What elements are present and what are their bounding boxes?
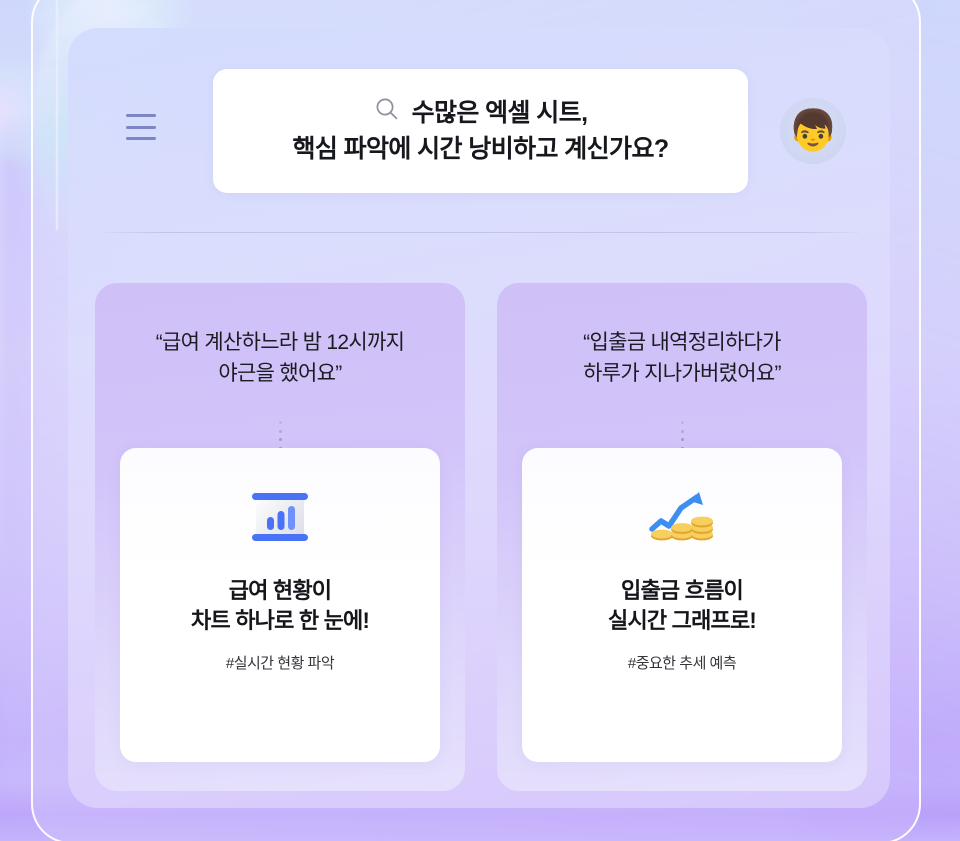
feature-inner-card[interactable]: 급여 현황이 차트 하나로 한 눈에! #실시간 현황 파악	[120, 448, 440, 762]
feature-card-payroll[interactable]: “급여 계산하느라 밤 12시까지 야근을 했어요”	[95, 283, 465, 791]
card-title-line-1: 급여 현황이	[191, 576, 369, 606]
chart-increasing-with-coins-icon	[646, 486, 718, 552]
avatar-face-icon: 👦	[788, 111, 838, 151]
card-quote-line-1: “입출금 내역정리하다가	[513, 327, 851, 358]
card-title-line-1: 입출금 흐름이	[608, 576, 756, 606]
card-title-line-2: 차트 하나로 한 눈에!	[191, 606, 369, 636]
card-hashtag: #중요한 추세 예측	[628, 652, 736, 673]
card-title: 급여 현황이 차트 하나로 한 눈에!	[191, 576, 369, 636]
hamburger-line	[126, 137, 156, 140]
card-quote: “급여 계산하느라 밤 12시까지 야근을 했어요”	[95, 327, 465, 389]
connector-dot	[279, 438, 282, 441]
search-icon	[374, 96, 400, 129]
search-headline-inner: 수많은 엑셀 시트, 핵심 파악에 시간 낭비하고 계신가요?	[274, 96, 686, 167]
card-quote-line-2: 야근을 했어요”	[111, 358, 449, 389]
header-divider	[100, 232, 860, 233]
card-hashtag: #실시간 현황 파악	[226, 652, 334, 673]
connector-dot	[279, 430, 282, 433]
connector-dot	[681, 421, 684, 424]
card-quote-line-1: “급여 계산하느라 밤 12시까지	[111, 327, 449, 358]
feature-inner-card[interactable]: 입출금 흐름이 실시간 그래프로! #중요한 추세 예측	[522, 448, 842, 762]
search-headline-text-1: 수많은 엑셀 시트,	[412, 96, 588, 131]
search-headline-line-1: 수많은 엑셀 시트,	[292, 96, 668, 131]
card-quote: “입출금 내역정리하다가 하루가 지나가버렸어요”	[497, 327, 867, 389]
search-headline-text-2: 핵심 파악에 시간 낭비하고 계신가요?	[292, 132, 668, 167]
hamburger-line	[126, 126, 156, 129]
card-title: 입출금 흐름이 실시간 그래프로!	[608, 576, 756, 636]
avatar[interactable]: 👦	[780, 98, 846, 164]
hamburger-menu-icon[interactable]	[126, 114, 160, 140]
search-headline-card[interactable]: 수많은 엑셀 시트, 핵심 파악에 시간 낭비하고 계신가요?	[213, 69, 748, 193]
connector-dot	[279, 421, 282, 424]
card-quote-line-2: 하루가 지나가버렸어요”	[513, 358, 851, 389]
connector-dot	[681, 430, 684, 433]
feature-card-cashflow[interactable]: “입출금 내역정리하다가 하루가 지나가버렸어요”	[497, 283, 867, 791]
bar-chart-icon	[244, 486, 316, 552]
header: 수많은 엑셀 시트, 핵심 파악에 시간 낭비하고 계신가요? 👦	[68, 28, 890, 232]
hamburger-line	[126, 114, 156, 117]
card-title-line-2: 실시간 그래프로!	[608, 606, 756, 636]
connector-dot	[681, 438, 684, 441]
feature-cards: “급여 계산하느라 밤 12시까지 야근을 했어요”	[95, 283, 867, 791]
